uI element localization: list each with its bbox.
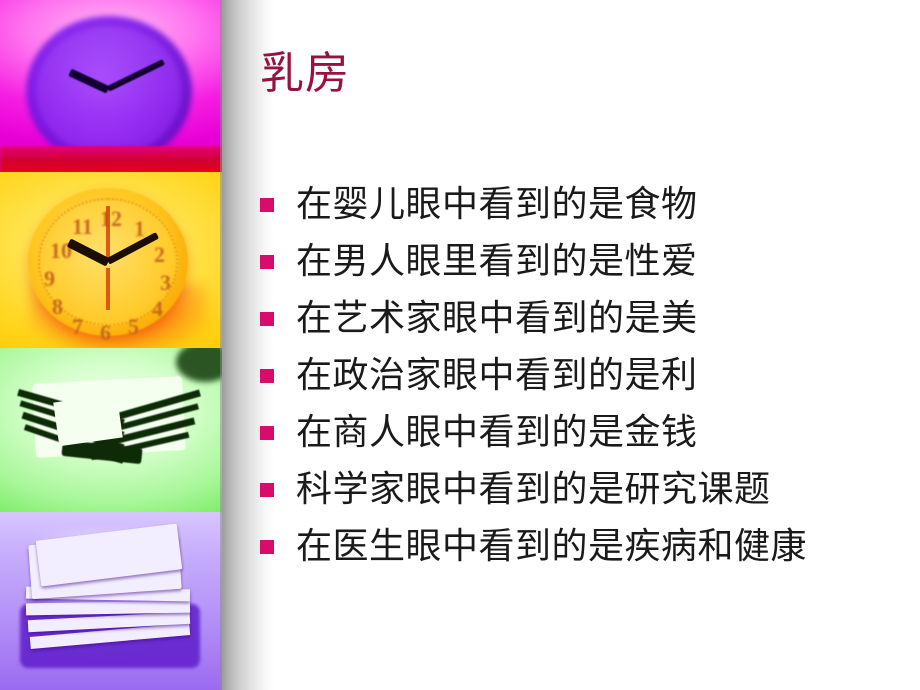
list-item[interactable]: 在男人眼里看到的是性爱 [255,233,920,290]
list-item-label: 在婴儿眼中看到的是食物 [296,185,698,225]
bullet-square-icon [260,483,274,497]
list-item-label: 在商人眼中看到的是金钱 [296,413,698,453]
purple-paper-stack-photo [0,512,222,690]
list-item-label: 在男人眼里看到的是性爱 [296,242,698,282]
list-item[interactable]: 在婴儿眼中看到的是食物 [255,176,920,233]
clock-numeral: 6 [100,320,111,346]
magenta-clock-photo [0,0,222,172]
clock-numeral: 8 [52,294,63,320]
slide-content: 乳房 在婴儿眼中看到的是食物 在男人眼里看到的是性爱 在艺术家眼中看到的是美 在… [255,0,920,690]
bullet-square-icon [260,369,274,383]
red-band [0,146,222,172]
presentation-slide: 12 1 2 3 4 5 6 7 8 9 10 11 [0,0,920,690]
bullet-square-icon [260,540,274,554]
book-page-light [53,394,123,446]
bullet-square-icon [260,312,274,326]
list-item[interactable]: 在艺术家眼中看到的是美 [255,290,920,347]
clock-numeral: 3 [160,270,171,296]
clock-numeral: 12 [100,206,122,232]
bullet-square-icon [260,255,274,269]
clock-center-mark-top [106,206,110,262]
clock-numeral: 7 [72,314,83,340]
bullet-square-icon [260,198,274,212]
clock-numeral: 9 [44,266,55,292]
bullet-square-icon [260,426,274,440]
green-book-photo [0,348,222,512]
list-item-label: 科学家眼中看到的是研究课题 [296,470,771,510]
list-item[interactable]: 在医生眼中看到的是疾病和健康 [255,518,920,575]
list-item[interactable]: 在商人眼中看到的是金钱 [255,404,920,461]
list-item[interactable]: 科学家眼中看到的是研究课题 [255,461,920,518]
page-title: 乳房 [260,48,350,100]
list-item-label: 在政治家眼中看到的是利 [296,356,698,396]
clock-numeral: 11 [72,214,93,240]
list-item[interactable]: 在政治家眼中看到的是利 [255,347,920,404]
clock-numeral: 2 [154,242,165,268]
list-item-label: 在医生眼中看到的是疾病和健康 [296,527,807,567]
clock-numeral: 4 [152,296,163,322]
image-strip: 12 1 2 3 4 5 6 7 8 9 10 11 [0,0,222,690]
list-item-label: 在艺术家眼中看到的是美 [296,299,698,339]
yellow-clock-photo: 12 1 2 3 4 5 6 7 8 9 10 11 [0,172,222,348]
bullet-list: 在婴儿眼中看到的是食物 在男人眼里看到的是性爱 在艺术家眼中看到的是美 在政治家… [255,176,920,575]
clock-numeral: 5 [128,314,139,340]
clock-center-mark-bottom [106,268,110,310]
